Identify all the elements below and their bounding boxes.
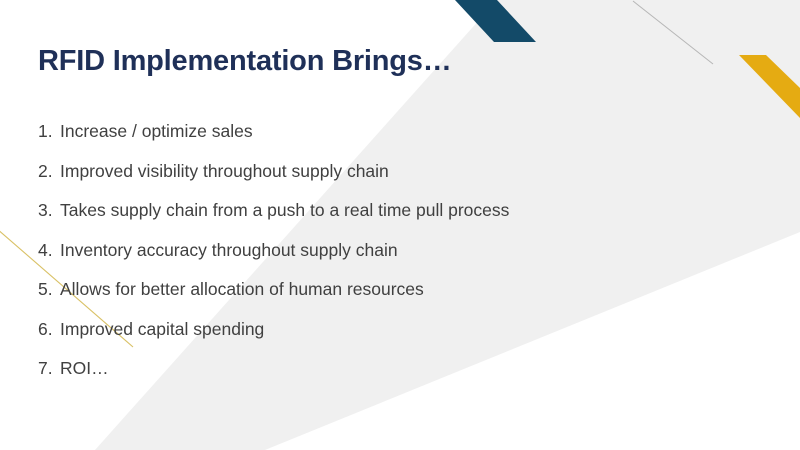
list-item-text: Increase / optimize sales (60, 123, 253, 141)
slide-body-list: 1. Increase / optimize sales 2. Improved… (38, 112, 738, 389)
list-item-number: 6. (38, 321, 57, 339)
list-item-number: 2. (38, 163, 57, 181)
list-item-text: ROI… (60, 360, 109, 378)
presentation-slide: RFID Implementation Brings… 1. Increase … (0, 0, 800, 450)
list-item-text: Takes supply chain from a push to a real… (60, 202, 509, 220)
slide-title: RFID Implementation Brings… (38, 46, 658, 78)
list-item-text: Inventory accuracy throughout supply cha… (60, 242, 398, 260)
list-item-number: 5. (38, 281, 57, 299)
list-item-number: 7. (38, 360, 57, 378)
list-item-text: Allows for better allocation of human re… (60, 281, 424, 299)
navy-parallelogram-shape (455, 0, 536, 42)
list-item: 3. Takes supply chain from a push to a r… (38, 191, 738, 231)
list-item: 6. Improved capital spending (38, 310, 738, 350)
list-item-number: 1. (38, 123, 57, 141)
list-item: 5. Allows for better allocation of human… (38, 270, 738, 310)
gold-parallelogram-shape (739, 55, 800, 118)
list-item: 1. Increase / optimize sales (38, 112, 738, 152)
list-item-number: 4. (38, 242, 57, 260)
list-item: 7. ROI… (38, 349, 738, 389)
list-item-number: 3. (38, 202, 57, 220)
list-item-text: Improved visibility throughout supply ch… (60, 163, 389, 181)
list-item-text: Improved capital spending (60, 321, 264, 339)
list-item: 2. Improved visibility throughout supply… (38, 152, 738, 192)
list-item: 4. Inventory accuracy throughout supply … (38, 231, 738, 271)
